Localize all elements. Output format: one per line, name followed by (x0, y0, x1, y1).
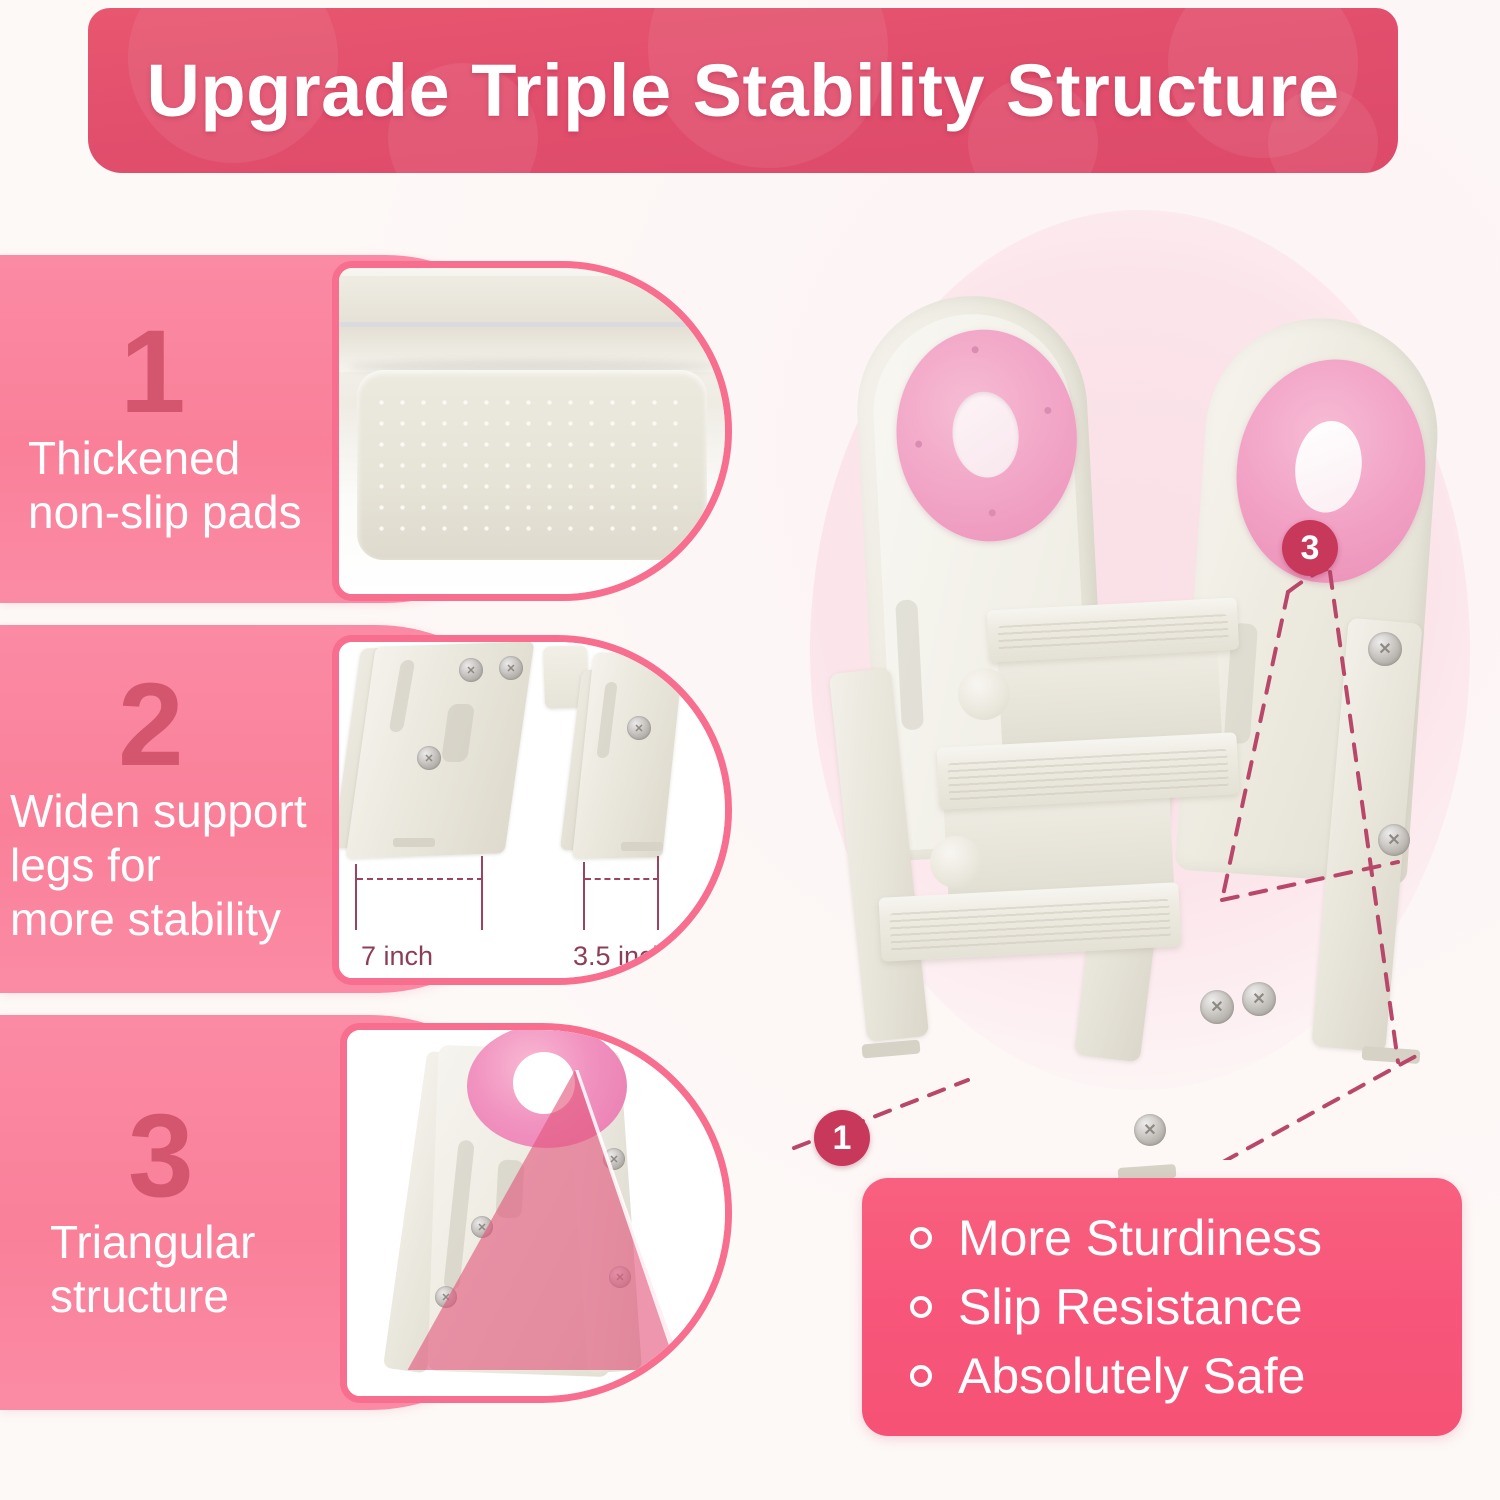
non-slip-pad-block (357, 370, 707, 560)
benefit-item: Absolutely Safe (910, 1351, 1462, 1401)
feature-card-1: 1 Thickened non-slip pads (0, 255, 740, 603)
benefit-item: More Sturdiness (910, 1213, 1462, 1263)
non-slip-pad-photo (332, 261, 732, 601)
benefit-label: Absolutely Safe (958, 1351, 1305, 1401)
screw-icon (627, 716, 651, 740)
header-banner: Upgrade Triple Stability Structure (88, 8, 1398, 173)
triangle-scene (347, 1030, 725, 1396)
dimension-3point5-inch: 3.5 inch (583, 854, 661, 972)
leg-foot-a (393, 838, 435, 847)
benefits-box: More Sturdiness Slip Resistance Absolute… (862, 1178, 1462, 1436)
feature-label-2: Widen support legs for more stability (10, 784, 350, 947)
infographic-page: Upgrade Triple Stability Structure 1 Thi… (0, 0, 1500, 1500)
benefit-label: More Sturdiness (958, 1213, 1322, 1263)
legs-scene: 7 inch 3.5 inch (339, 642, 725, 978)
bullet-icon (910, 1227, 932, 1249)
feature-card-2: 2 Widen support legs for more stability (0, 625, 740, 993)
screw-icon (1368, 632, 1402, 666)
screw-icon (1242, 982, 1276, 1016)
annotation-base-width (1070, 1056, 1416, 1160)
pad-dot-texture (371, 392, 693, 544)
dimension-7-inch: 7 inch (355, 854, 485, 972)
step-stool-photo: 1 2 3 (770, 200, 1500, 1160)
screw-icon (499, 656, 523, 680)
callout-badge-1[interactable]: 1 (814, 1110, 870, 1166)
feature-card-3: 3 Triangular structure (0, 1015, 740, 1410)
feature-card-list: 1 Thickened non-slip pads 2 Widen suppor… (0, 255, 760, 1432)
dimension-label-7-inch: 7 inch (361, 941, 433, 972)
feature-label-1: Thickened non-slip pads (28, 431, 338, 540)
bullet-icon (910, 1365, 932, 1387)
foot-left (862, 1039, 921, 1058)
screw-icon (1134, 1114, 1166, 1146)
screw-icon (1378, 824, 1410, 856)
panel-knob-upper (958, 668, 1010, 720)
screw-icon (417, 746, 441, 770)
callout-badge-3[interactable]: 3 (1282, 520, 1338, 576)
bullet-icon (910, 1296, 932, 1318)
pad-scene (339, 268, 725, 594)
step-stool-illustration: 1 2 3 (770, 200, 1500, 1160)
benefit-item: Slip Resistance (910, 1282, 1462, 1332)
foot-right (1362, 1046, 1421, 1064)
pad-upper-surface (332, 276, 732, 372)
page-title: Upgrade Triple Stability Structure (146, 54, 1339, 128)
dimension-label-3point5-inch: 3.5 inch (573, 941, 668, 972)
panel-knob-lower (930, 836, 982, 888)
feature-label-3: Triangular structure (50, 1215, 330, 1324)
triangular-structure-photo (340, 1023, 732, 1403)
support-legs-photo: 7 inch 3.5 inch (332, 635, 732, 985)
screw-icon (1200, 990, 1234, 1024)
benefit-label: Slip Resistance (958, 1282, 1303, 1332)
screw-icon (459, 658, 483, 682)
dimension-annotations: 7 inch 3.5 inch (339, 848, 725, 972)
